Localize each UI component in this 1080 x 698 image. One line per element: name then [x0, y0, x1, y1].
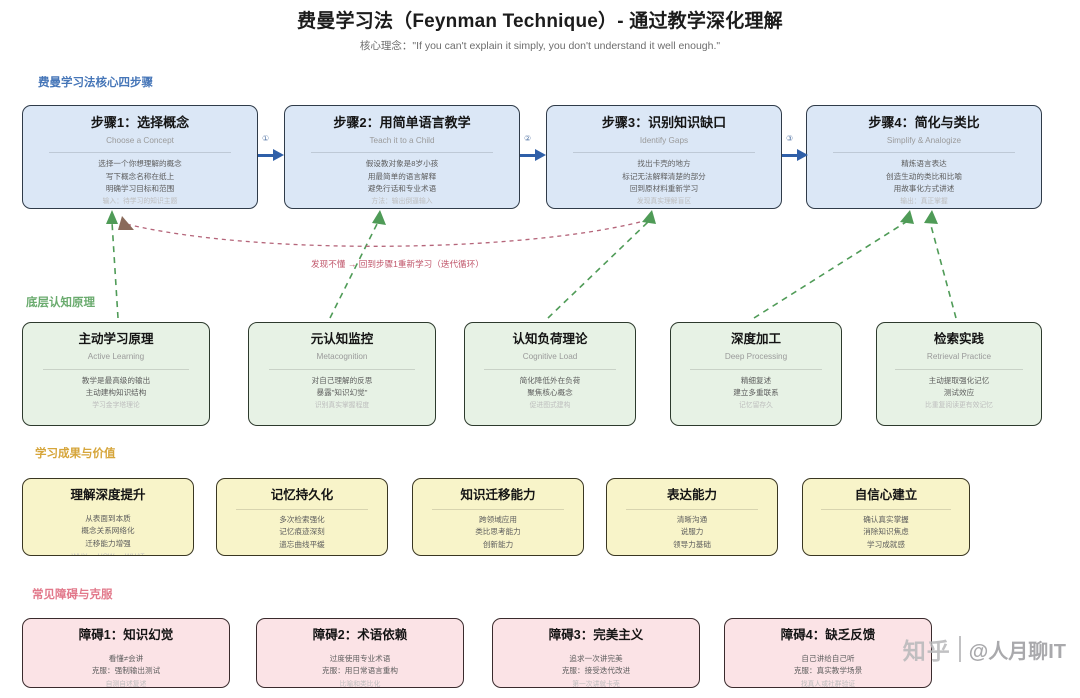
- arrow-head-icon: [273, 149, 284, 161]
- step-arrow-3: ③: [782, 148, 808, 162]
- divider: [49, 152, 232, 153]
- step-arrow-number: ②: [524, 134, 531, 143]
- obstacle-line: 追求一次讲完美: [569, 653, 622, 665]
- outcome-line: 多次检索强化: [279, 514, 325, 526]
- principle-line: 暴露"知识幻觉": [317, 387, 368, 399]
- outcome-card-3[interactable]: 知识迁移能力 跨领域应用 类比思考能力 创新能力: [412, 478, 584, 556]
- outcome-line: 类比思考能力: [475, 526, 521, 538]
- divider: [236, 509, 369, 510]
- principle-subtitle: Deep Processing: [725, 352, 787, 362]
- step-footer: 输入：待学习的知识主题: [103, 198, 178, 207]
- outcome-line: 领导力基础: [673, 539, 711, 551]
- principle-subtitle: Metacognition: [317, 352, 368, 362]
- outcome-line: 清晰沟通: [677, 514, 707, 526]
- divider: [821, 509, 950, 510]
- step-arrow-2: ②: [520, 148, 546, 162]
- principle-line: 对自己理解的反思: [312, 375, 373, 387]
- section-label-outcomes: 学习成果与价值: [35, 445, 116, 461]
- step-footer: 发现真实理解盲区: [637, 198, 691, 207]
- outcome-card-5[interactable]: 自信心建立 确认真实掌握 消除知识焦虑 学习成就感: [802, 478, 970, 556]
- divider: [484, 369, 617, 370]
- step-card-4[interactable]: 步骤4：简化与类比 Simplify & Analogize 精炼语言表达 创造…: [806, 105, 1042, 209]
- obstacle-line: 克服：真实教学场景: [794, 665, 862, 677]
- divider: [311, 152, 494, 153]
- watermark-divider: [959, 636, 961, 662]
- obstacle-footer: 自测自述复述: [106, 681, 147, 688]
- principle-line: 主动建构知识结构: [86, 387, 147, 399]
- principle-title: 元认知监控: [311, 332, 374, 347]
- principle-line: 建立多重联系: [733, 387, 779, 399]
- outcome-title: 理解深度提升: [70, 488, 145, 503]
- obstacle-line: 克服：接受迭代改进: [562, 665, 630, 677]
- step-subtitle: Teach it to a Child: [369, 136, 434, 146]
- step-line: 选择一个你想理解的概念: [98, 158, 182, 170]
- obstacle-title: 障碍3：完美主义: [549, 628, 643, 643]
- step-card-2[interactable]: 步骤2：用简单语言教学 Teach it to a Child 假设教对象是8岁…: [284, 105, 520, 209]
- step-line: 避免行话和专业术语: [368, 183, 436, 195]
- principle-card-1[interactable]: 主动学习原理 Active Learning 教学是最高级的输出 主动建构知识结…: [22, 322, 210, 426]
- outcome-footer: WHY → HOW → WHAT: [72, 553, 145, 556]
- obstacle-card-3[interactable]: 障碍3：完美主义 追求一次讲完美 克服：接受迭代改进 第一次讲就卡壳: [492, 618, 700, 688]
- principle-card-4[interactable]: 深度加工 Deep Processing 精细复述 建立多重联系 记忆留存久: [670, 322, 842, 426]
- obstacle-footer: 第一次讲就卡壳: [572, 681, 620, 688]
- step-card-1[interactable]: 步骤1：选择概念 Choose a Concept 选择一个你想理解的概念 写下…: [22, 105, 258, 209]
- divider: [432, 509, 565, 510]
- step-line: 用故事化方式讲述: [894, 183, 955, 195]
- obstacle-line: 过度使用专业术语: [330, 653, 391, 665]
- outcome-line: 说服力: [681, 526, 704, 538]
- step-title: 步骤1：选择概念: [91, 115, 189, 131]
- outcome-line: 学习成就感: [867, 539, 905, 551]
- step-subtitle: Choose a Concept: [106, 136, 174, 146]
- principle-line: 测试效应: [944, 387, 974, 399]
- obstacle-line: 克服：强制输出测试: [92, 665, 160, 677]
- step-title: 步骤2：用简单语言教学: [333, 115, 470, 131]
- divider: [833, 152, 1016, 153]
- outcome-card-2[interactable]: 记忆持久化 多次检索强化 记忆痕迹深刻 遗忘曲线平缓: [216, 478, 388, 556]
- principle-footer: 记忆留存久: [739, 402, 773, 411]
- principle-line: 聚焦核心概念: [527, 387, 573, 399]
- step-line: 回到原材料重新学习: [630, 183, 698, 195]
- obstacle-card-4[interactable]: 障碍4：缺乏反馈 自己讲给自己听 克服：真实教学场景 找真人或社群验证: [724, 618, 932, 688]
- obstacle-title: 障碍4：缺乏反馈: [781, 628, 875, 643]
- outcome-line: 确认真实掌握: [863, 514, 909, 526]
- principle-line: 主动提取强化记忆: [929, 375, 990, 387]
- outcome-card-1[interactable]: 理解深度提升 从表面到本质 概念关系网络化 迁移能力增强 WHY → HOW →…: [22, 478, 194, 556]
- obstacle-line: 看懂≠会讲: [109, 653, 144, 665]
- arrow-head-icon: [535, 149, 546, 161]
- step-line: 创造生动的类比和比喻: [886, 171, 962, 183]
- principle-card-2[interactable]: 元认知监控 Metacognition 对自己理解的反思 暴露"知识幻觉" 识别…: [248, 322, 436, 426]
- divider: [269, 369, 414, 370]
- step-title: 步骤3：识别知识缺口: [602, 115, 726, 131]
- principle-footer: 学习金字塔理论: [92, 402, 140, 411]
- outcome-title: 记忆持久化: [271, 488, 334, 503]
- outcome-title: 知识迁移能力: [460, 488, 535, 503]
- principle-title: 深度加工: [731, 332, 781, 347]
- principle-title: 检索实践: [934, 332, 984, 347]
- divider: [626, 509, 759, 510]
- outcome-line: 跨领域应用: [479, 514, 517, 526]
- step-line: 标记无法解释清楚的部分: [622, 171, 706, 183]
- divider: [895, 369, 1023, 370]
- principle-subtitle: Cognitive Load: [523, 352, 578, 362]
- obstacle-card-2[interactable]: 障碍2：术语依赖 过度使用专业术语 克服：用日常语言重构 比喻和类比化: [256, 618, 464, 688]
- feedback-loop-label: 发现不懂 → 回到步骤1重新学习（迭代循环）: [311, 258, 484, 270]
- principle-card-5[interactable]: 检索实践 Retrieval Practice 主动提取强化记忆 测试效应 比重…: [876, 322, 1042, 426]
- principle-line: 简化降低外在负荷: [520, 375, 581, 387]
- step-footer: 方法：输出倒逼输入: [371, 198, 432, 207]
- obstacle-footer: 找真人或社群验证: [801, 681, 855, 688]
- step-arrow-number: ③: [786, 134, 793, 143]
- step-line: 明确学习目标和范围: [106, 183, 174, 195]
- section-label-obstacles: 常见障碍与克服: [32, 586, 113, 602]
- step-line: 用最简单的语言解释: [368, 171, 436, 183]
- outcome-line: 创新能力: [483, 539, 513, 551]
- outcome-line: 消除知识焦虑: [863, 526, 909, 538]
- obstacle-card-1[interactable]: 障碍1：知识幻觉 看懂≠会讲 克服：强制输出测试 自测自述复述: [22, 618, 230, 688]
- principle-line: 精细复述: [741, 375, 771, 387]
- principle-footer: 促进图式建构: [530, 402, 571, 411]
- step-line: 精炼语言表达: [901, 158, 947, 170]
- obstacle-title: 障碍1：知识幻觉: [79, 628, 173, 643]
- obstacle-line: 自己讲给自己听: [801, 653, 854, 665]
- page-title: 费曼学习法（Feynman Technique）- 通过教学深化理解: [0, 6, 1080, 33]
- outcome-card-4[interactable]: 表达能力 清晰沟通 说服力 领导力基础: [606, 478, 778, 556]
- page-subtitle: 核心理念："If you can't explain it simply, yo…: [0, 38, 1080, 53]
- outcome-line: 从表面到本质: [85, 513, 131, 525]
- step-footer: 输出：真正掌握: [900, 198, 948, 207]
- outcome-line: 遗忘曲线平缓: [279, 539, 325, 551]
- obstacle-line: 克服：用日常语言重构: [322, 665, 398, 677]
- divider: [43, 369, 188, 370]
- step-arrow-1: ①: [258, 148, 284, 162]
- step-subtitle: Simplify & Analogize: [887, 136, 961, 146]
- step-card-3[interactable]: 步骤3：识别知识缺口 Identify Gaps 找出卡壳的地方 标记无法解释清…: [546, 105, 782, 209]
- principle-title: 认知负荷理论: [512, 332, 587, 347]
- principle-subtitle: Retrieval Practice: [927, 352, 991, 362]
- step-arrow-number: ①: [262, 134, 269, 143]
- principle-card-3[interactable]: 认知负荷理论 Cognitive Load 简化降低外在负荷 聚焦核心概念 促进…: [464, 322, 636, 426]
- obstacle-title: 障碍2：术语依赖: [313, 628, 407, 643]
- outcome-title: 表达能力: [667, 488, 717, 503]
- step-subtitle: Identify Gaps: [640, 136, 688, 146]
- principle-footer: 识别真实掌握程度: [315, 402, 369, 411]
- divider: [690, 369, 823, 370]
- principle-line: 教学是最高级的输出: [82, 375, 150, 387]
- divider: [573, 152, 756, 153]
- watermark-handle: @人月聊IT: [969, 635, 1066, 664]
- diagram-canvas: 费曼学习法（Feynman Technique）- 通过教学深化理解 核心理念：…: [0, 0, 1080, 698]
- outcome-line: 概念关系网络化: [81, 525, 134, 537]
- watermark: 知乎 @人月聊IT: [903, 632, 1066, 666]
- section-label-principles: 底层认知原理: [26, 294, 95, 310]
- principle-footer: 比重复阅读更有效记忆: [925, 402, 993, 411]
- outcome-title: 自信心建立: [855, 488, 918, 503]
- step-line: 写下概念名称在纸上: [106, 171, 174, 183]
- step-title: 步骤4：简化与类比: [868, 115, 979, 131]
- principle-subtitle: Active Learning: [88, 352, 144, 362]
- section-label-steps: 费曼学习法核心四步骤: [38, 74, 153, 90]
- arrow-head-icon: [797, 149, 808, 161]
- step-line: 找出卡壳的地方: [637, 158, 690, 170]
- outcome-line: 迁移能力增强: [85, 538, 131, 550]
- principle-title: 主动学习原理: [78, 332, 153, 347]
- outcome-line: 记忆痕迹深刻: [279, 526, 325, 538]
- watermark-site: 知乎: [903, 632, 951, 666]
- obstacle-footer: 比喻和类比化: [340, 681, 381, 688]
- step-line: 假设教对象是8岁小孩: [366, 158, 439, 170]
